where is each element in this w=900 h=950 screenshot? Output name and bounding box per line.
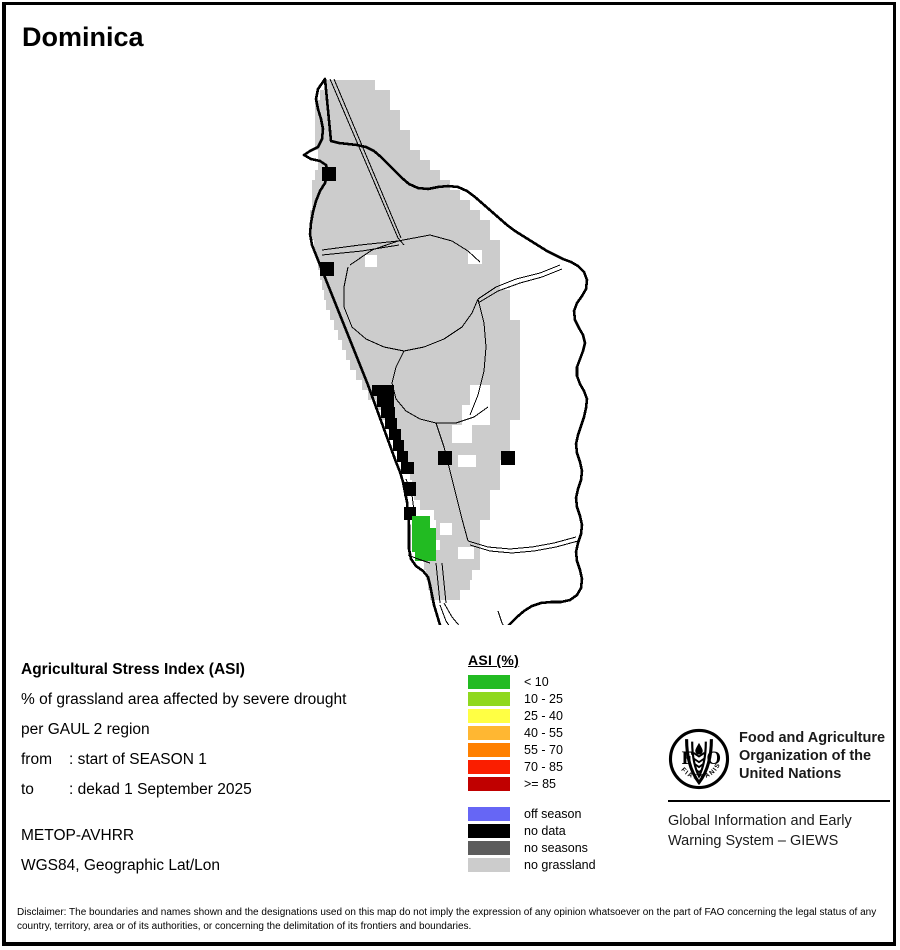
legend-label: no grassland: [524, 858, 596, 872]
fao-org-name: Food and Agriculture Organization of the…: [739, 728, 885, 783]
legend-row-class-6: >= 85: [468, 775, 638, 792]
legend-label: 55 - 70: [524, 743, 563, 757]
info-from-key: from: [21, 745, 69, 775]
legend-label: 70 - 85: [524, 760, 563, 774]
legend-row-special-2: no seasons: [468, 839, 638, 856]
info-spacer: [21, 805, 451, 821]
disclaimer-text: Disclaimer: The boundaries and names sho…: [17, 906, 877, 934]
legend-swatch: [468, 743, 510, 757]
legend-swatch: [468, 760, 510, 774]
legend-row-special-3: no grassland: [468, 856, 638, 873]
fao-org-line1: Food and Agriculture: [739, 729, 885, 747]
info-to-key: to: [21, 775, 69, 805]
legend-special-list: off seasonno datano seasonsno grassland: [468, 805, 638, 873]
info-to-row: to: dekad 1 September 2025: [21, 775, 451, 805]
legend-label: 10 - 25: [524, 692, 563, 706]
map-info-block: Agricultural Stress Index (ASI) % of gra…: [21, 655, 451, 881]
legend-row-special-1: no data: [468, 822, 638, 839]
fao-branding: F O FIAT PANIS Food and Agriculture Orga…: [668, 728, 890, 851]
info-sensor: METOP-AVHRR: [21, 821, 451, 851]
legend-swatch: [468, 824, 510, 838]
legend-class-list: < 1010 - 2525 - 4040 - 5555 - 7070 - 85>…: [468, 673, 638, 792]
legend-gap: [468, 792, 638, 805]
legend-swatch: [468, 675, 510, 689]
legend-row-class-3: 40 - 55: [468, 724, 638, 741]
info-projection: WGS84, Geographic Lat/Lon: [21, 851, 451, 881]
legend-swatch: [468, 777, 510, 791]
legend-label: 25 - 40: [524, 709, 563, 723]
dominica-map-svg: [0, 55, 900, 625]
giews-line2: Warning System – GIEWS: [668, 831, 890, 851]
legend-row-class-2: 25 - 40: [468, 707, 638, 724]
fao-org-line2: Organization of the: [739, 747, 885, 765]
legend-label: >= 85: [524, 777, 556, 791]
legend-swatch: [468, 858, 510, 872]
fao-org-line3: United Nations: [739, 765, 885, 783]
map-graphic[interactable]: [0, 55, 900, 625]
svg-text:F: F: [682, 748, 693, 769]
info-to-value: : dekad 1 September 2025: [69, 781, 252, 798]
map-poster: Dominica: [0, 0, 900, 950]
legend-row-class-5: 70 - 85: [468, 758, 638, 775]
giews-line1: Global Information and Early: [668, 811, 890, 831]
legend-row-special-0: off season: [468, 805, 638, 822]
raster-asi-lt10: [412, 516, 436, 561]
legend-swatch: [468, 709, 510, 723]
legend-title: ASI (%): [468, 652, 638, 668]
legend-swatch: [468, 807, 510, 821]
info-heading: Agricultural Stress Index (ASI): [21, 655, 451, 685]
info-from-value: : start of SEASON 1: [69, 751, 207, 768]
legend-label: < 10: [524, 675, 549, 689]
legend-label: no seasons: [524, 841, 588, 855]
fao-divider: [668, 800, 890, 802]
legend-row-class-1: 10 - 25: [468, 690, 638, 707]
legend-label: 40 - 55: [524, 726, 563, 740]
legend-row-class-4: 55 - 70: [468, 741, 638, 758]
info-region: per GAUL 2 region: [21, 715, 451, 745]
legend-row-class-0: < 10: [468, 673, 638, 690]
giews-name: Global Information and Early Warning Sys…: [668, 811, 890, 851]
legend: ASI (%) < 1010 - 2525 - 4040 - 5555 - 70…: [468, 652, 638, 873]
legend-label: no data: [524, 824, 566, 838]
fao-header: F O FIAT PANIS Food and Agriculture Orga…: [668, 728, 890, 790]
info-subtitle: % of grassland area affected by severe d…: [21, 685, 451, 715]
info-from-row: from: start of SEASON 1: [21, 745, 451, 775]
legend-swatch: [468, 692, 510, 706]
legend-label: off season: [524, 807, 581, 821]
fao-logo-icon: F O FIAT PANIS: [668, 728, 730, 790]
legend-swatch: [468, 841, 510, 855]
page-title: Dominica: [22, 22, 144, 53]
legend-swatch: [468, 726, 510, 740]
